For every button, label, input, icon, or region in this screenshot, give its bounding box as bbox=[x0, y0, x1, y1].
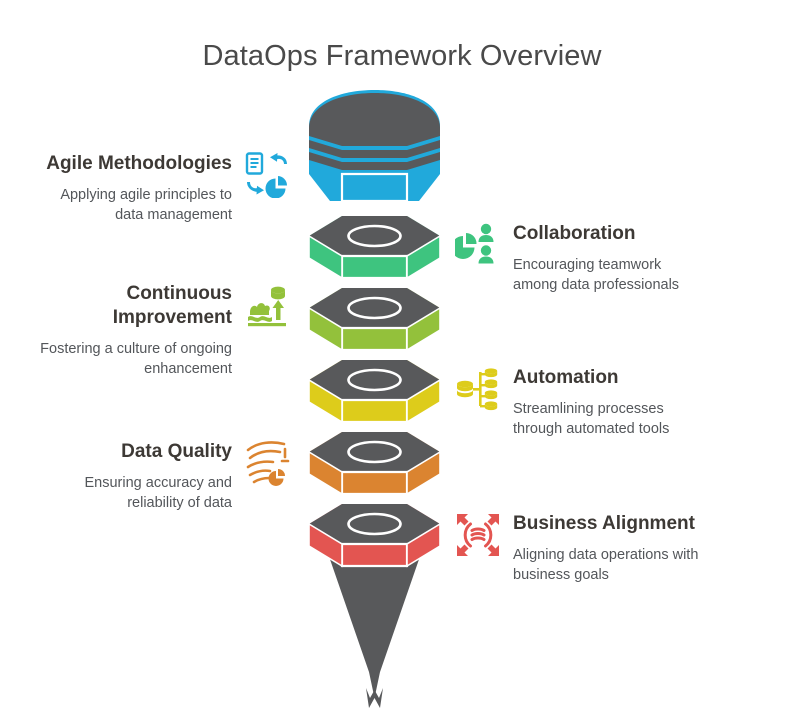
target-expand-database-icon bbox=[455, 512, 501, 558]
entry-text-block: Continuous Improvement Fostering a cultu… bbox=[40, 282, 232, 379]
page-title: DataOps Framework Overview bbox=[0, 40, 804, 73]
entry-title: Data Quality bbox=[121, 440, 232, 464]
funnel-layer-green bbox=[302, 214, 447, 292]
entry-text-block: Data Quality Ensuring accuracy and relia… bbox=[85, 440, 233, 513]
data-stream-fan-icon bbox=[244, 440, 290, 486]
entry-text-block: Agile Methodologies Applying agile princ… bbox=[46, 152, 232, 225]
entry-continuous-improvement[interactable]: Continuous Improvement Fostering a cultu… bbox=[0, 282, 290, 379]
database-nodes-icon bbox=[455, 366, 501, 412]
entry-title: Business Alignment bbox=[513, 512, 695, 536]
people-piechart-icon bbox=[455, 222, 501, 268]
entry-description: Aligning data operations with business g… bbox=[513, 545, 698, 585]
entry-agile-methodologies[interactable]: Agile Methodologies Applying agile princ… bbox=[0, 152, 290, 225]
entry-description: Encouraging teamwork among data professi… bbox=[513, 255, 679, 295]
growth-plant-arrow-icon bbox=[244, 282, 290, 328]
entry-description: Applying agile principles to data manage… bbox=[60, 185, 232, 225]
entry-title: Continuous Improvement bbox=[113, 282, 232, 330]
entry-data-quality[interactable]: Data Quality Ensuring accuracy and relia… bbox=[0, 440, 290, 513]
entry-title: Agile Methodologies bbox=[46, 152, 232, 176]
funnel-layer-blue bbox=[302, 88, 447, 210]
entry-title: Automation bbox=[513, 366, 619, 390]
funnel-layer-yellow bbox=[302, 358, 447, 436]
entry-description: Streamlining processes through automated… bbox=[513, 399, 669, 439]
entry-text-block: Business Alignment Aligning data operati… bbox=[513, 512, 698, 585]
entry-collaboration[interactable]: Collaboration Encouraging teamwork among… bbox=[455, 222, 785, 295]
entry-description: Fostering a culture of ongoing enhanceme… bbox=[40, 339, 232, 379]
infographic-canvas: DataOps Framework Overview bbox=[0, 0, 804, 677]
entry-text-block: Automation Streamlining processes throug… bbox=[513, 366, 669, 439]
document-refresh-piechart-icon bbox=[244, 152, 290, 198]
entry-business-alignment[interactable]: Business Alignment Aligning data operati… bbox=[455, 512, 785, 585]
entry-description: Ensuring accuracy and reliability of dat… bbox=[85, 473, 233, 513]
entry-title: Collaboration bbox=[513, 222, 635, 246]
funnel-layer-orange bbox=[302, 430, 447, 508]
entry-automation[interactable]: Automation Streamlining processes throug… bbox=[455, 366, 785, 439]
entry-text-block: Collaboration Encouraging teamwork among… bbox=[513, 222, 679, 295]
funnel-layer-red bbox=[302, 502, 447, 717]
funnel-layer-light-green bbox=[302, 286, 447, 364]
